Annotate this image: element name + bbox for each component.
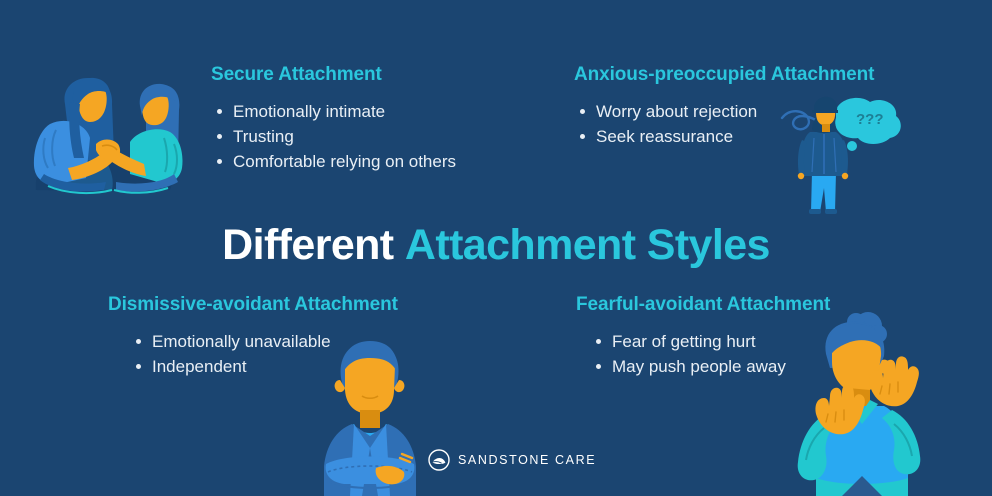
quadrant-anxious-preoccupied: Anxious-preoccupied Attachment Worry abo…: [574, 64, 874, 149]
list-item: May push people away: [590, 354, 830, 379]
quadrant-secure-bullets: Emotionally intimate Trusting Comfortabl…: [211, 99, 456, 174]
quadrant-fearful-avoidant: Fearful-avoidant Attachment Fear of gett…: [576, 294, 830, 379]
list-item: Comfortable relying on others: [211, 149, 456, 174]
sandstone-care-circle-wave-icon: [428, 449, 450, 471]
list-item: Emotionally intimate: [211, 99, 456, 124]
couple-holding-hands-illustration: [18, 68, 196, 198]
list-item: Seek reassurance: [574, 124, 874, 149]
quadrant-secure-title: Secure Attachment: [211, 64, 456, 86]
list-item: Emotionally unavailable: [130, 329, 398, 354]
list-item: Fear of getting hurt: [590, 329, 830, 354]
quadrant-fearful-avoidant-title: Fearful-avoidant Attachment: [576, 294, 830, 316]
page-title: Different Attachment Styles: [0, 224, 992, 267]
list-item: Trusting: [211, 124, 456, 149]
logo-wordmark: SANDSTONE CARE: [458, 453, 596, 467]
quadrant-dismissive-avoidant: Dismissive-avoidant Attachment Emotional…: [108, 294, 398, 379]
quadrant-fearful-avoidant-bullets: Fear of getting hurt May push people awa…: [590, 329, 830, 379]
infographic-canvas: ???: [0, 0, 992, 496]
quadrant-anxious-preoccupied-bullets: Worry about rejection Seek reassurance: [574, 99, 874, 149]
quadrant-anxious-preoccupied-title: Anxious-preoccupied Attachment: [574, 64, 874, 86]
quadrant-dismissive-avoidant-bullets: Emotionally unavailable Independent: [130, 329, 398, 379]
quadrant-secure: Secure Attachment Emotionally intimate T…: [211, 64, 456, 174]
list-item: Worry about rejection: [574, 99, 874, 124]
page-title-cyan: Attachment Styles: [405, 221, 770, 269]
page-title-white: Different: [222, 221, 393, 269]
list-item: Independent: [130, 354, 398, 379]
sandstone-care-logo: SANDSTONE CARE: [428, 449, 596, 471]
quadrant-dismissive-avoidant-title: Dismissive-avoidant Attachment: [108, 294, 398, 316]
